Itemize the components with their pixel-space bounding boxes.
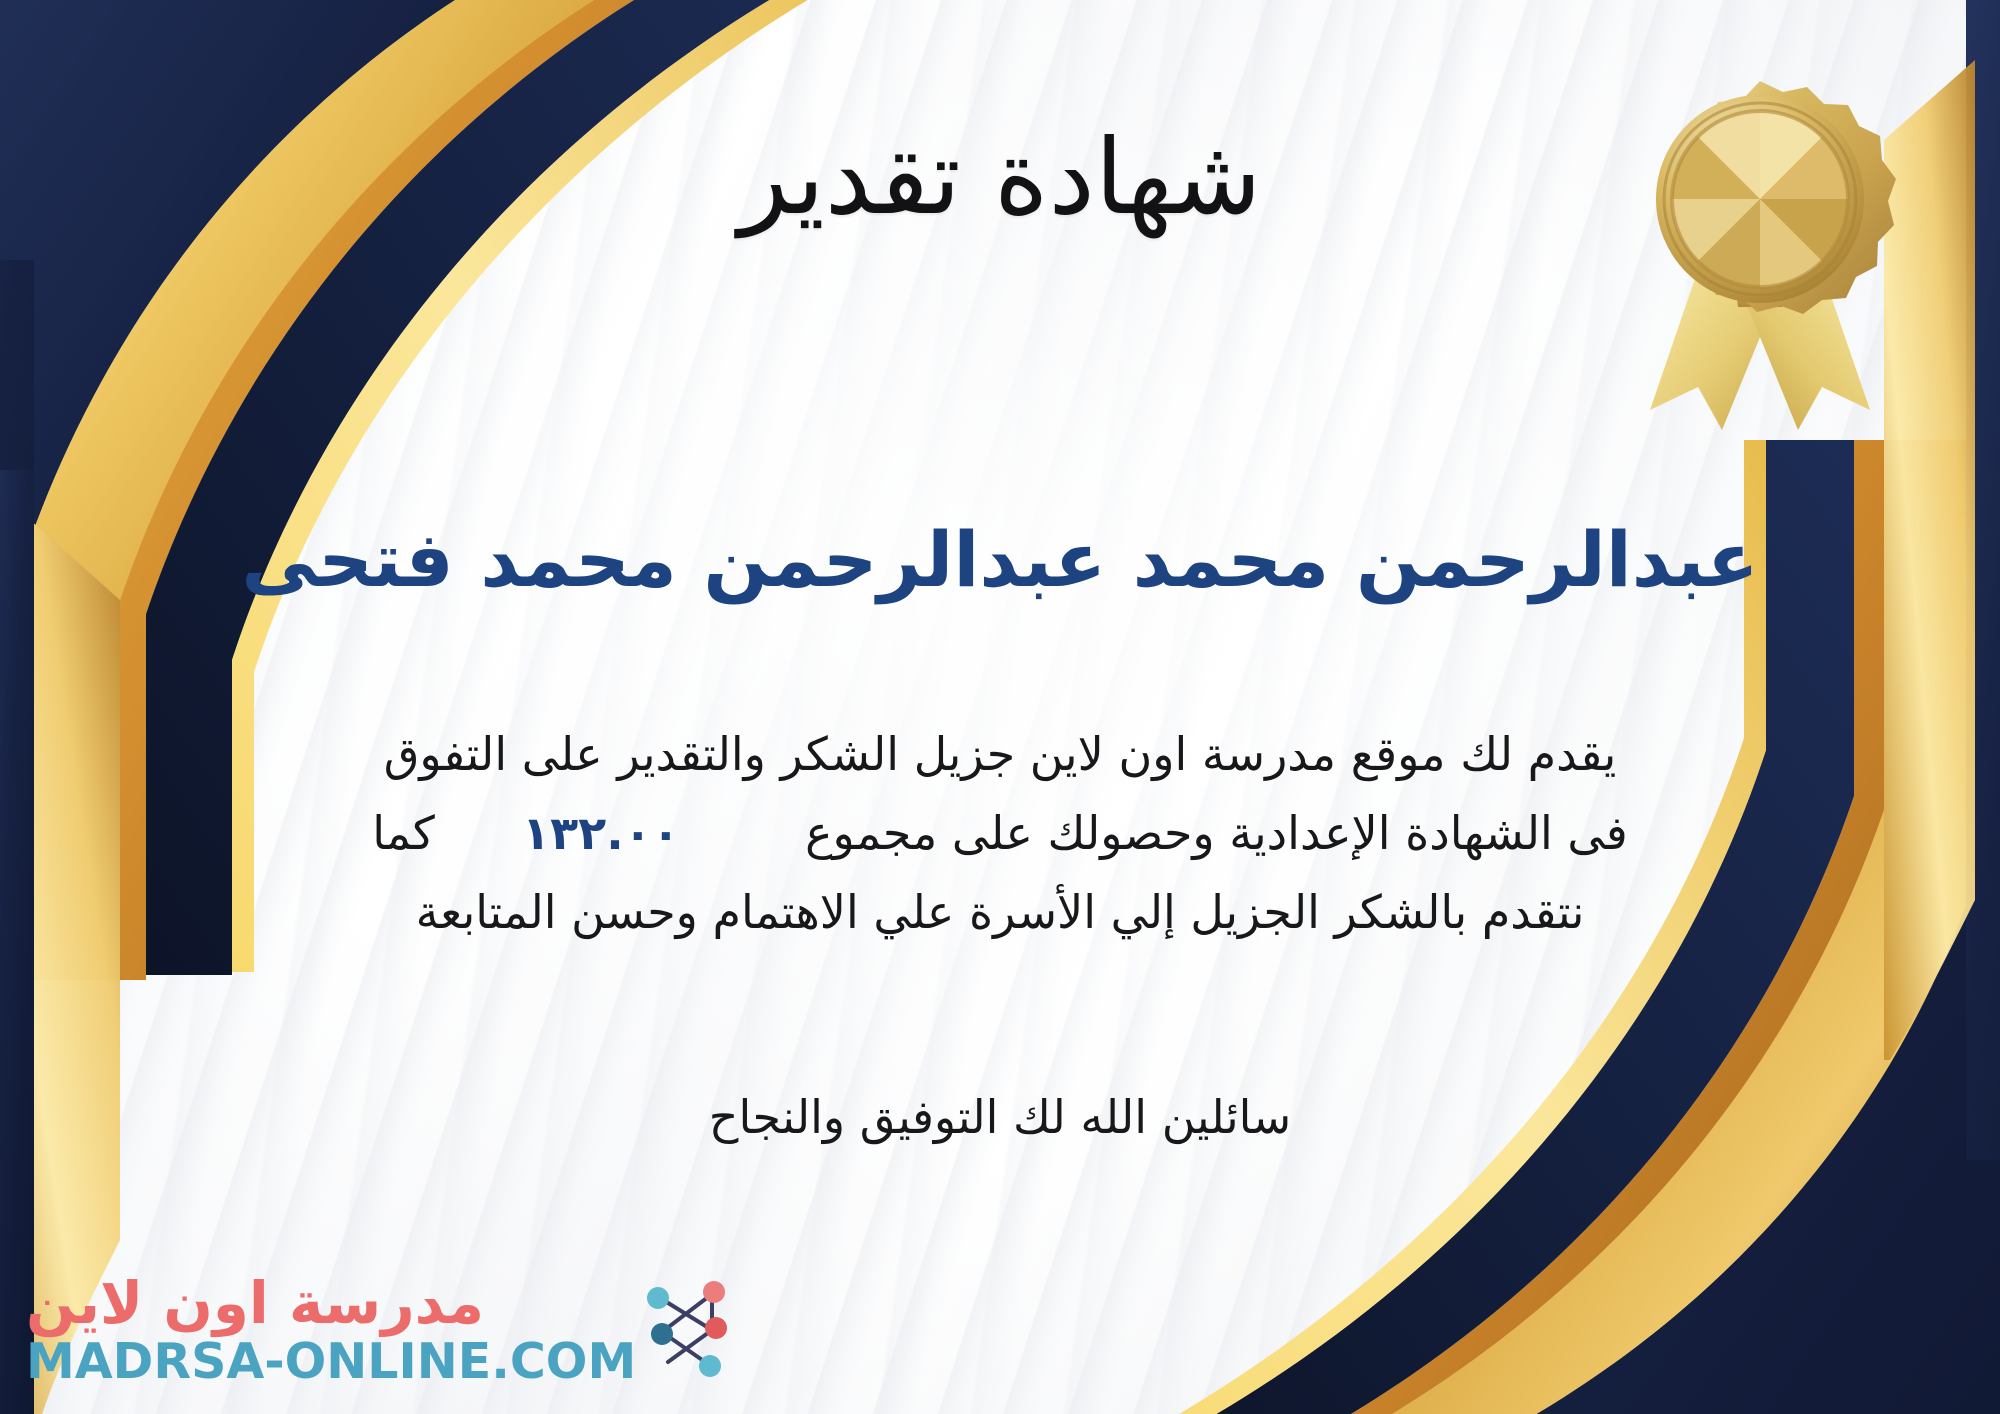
brand-logo-text: مدرسة اون لاين MADRSA-ONLINE.COM [26, 1273, 636, 1387]
body-line-2: فى الشهادة الإعدادية وحصولك على مجموع ١٣… [60, 794, 1940, 873]
body-line-2-suffix: كما [372, 806, 435, 860]
student-name: عبدالرحمن محمد عبدالرحمن محمد فتحى [40, 515, 1960, 605]
body-line-1: يقدم لك موقع مدرسة اون لاين جزيل الشكر و… [60, 715, 1940, 794]
closing-wish: سائلين الله لك التوفيق والنجاح [60, 1090, 1940, 1144]
certificate-body: يقدم لك موقع مدرسة اون لاين جزيل الشكر و… [60, 715, 1940, 952]
network-nodes-icon [642, 1272, 734, 1382]
body-line-3: نتقدم بالشكر الجزيل إلي الأسرة علي الاهت… [60, 873, 1940, 952]
body-line-2-prefix: فى الشهادة الإعدادية وحصولك على مجموع [805, 806, 1628, 860]
certificate-canvas: شهادة تقدير عبدالرحمن محمد عبدالرحمن محم… [0, 0, 2000, 1414]
brand-name-arabic: مدرسة اون لاين [26, 1273, 484, 1334]
brand-logo[interactable]: مدرسة اون لاين MADRSA-ONLINE.COM [26, 1272, 734, 1388]
page-title: شهادة تقدير [0, 120, 2000, 234]
brand-domain: MADRSA-ONLINE.COM [26, 1336, 636, 1387]
total-score-value: ١٣٢.٠٠ [504, 806, 698, 860]
